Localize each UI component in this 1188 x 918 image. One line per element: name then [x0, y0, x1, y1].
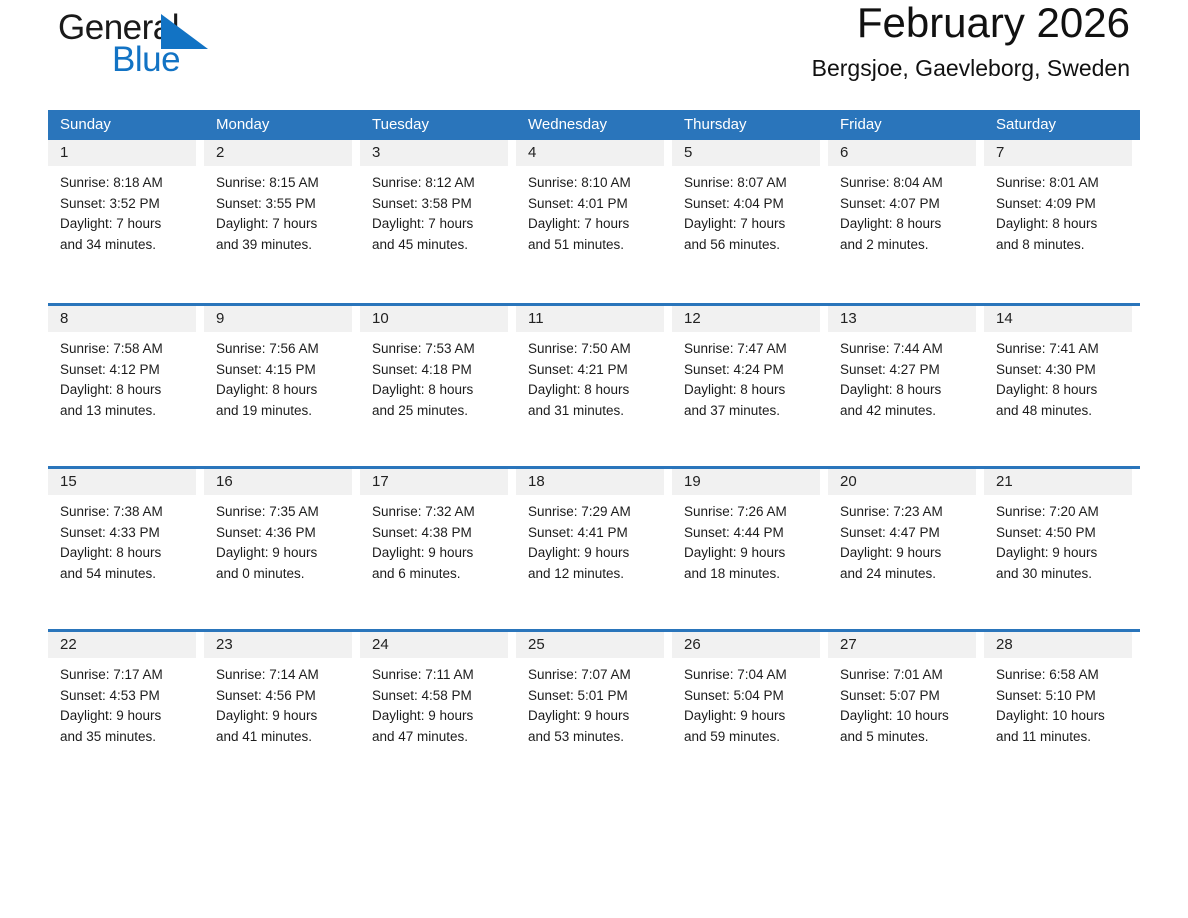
day-number-band: 17: [360, 469, 508, 495]
brand-name-blue: Blue: [112, 42, 180, 77]
daylight-text-line2: and 24 minutes.: [840, 564, 976, 585]
daylight-text-line1: Daylight: 8 hours: [840, 380, 976, 401]
sunrise-text: Sunrise: 7:50 AM: [528, 339, 664, 360]
daylight-text-line1: Daylight: 7 hours: [528, 214, 664, 235]
sunset-text: Sunset: 5:04 PM: [684, 686, 820, 707]
day-info: Sunrise: 7:35 AM Sunset: 4:36 PM Dayligh…: [204, 495, 352, 584]
day-cell[interactable]: 10 Sunrise: 7:53 AM Sunset: 4:18 PM Dayl…: [360, 306, 516, 466]
daylight-text-line2: and 47 minutes.: [372, 727, 508, 748]
daylight-text-line2: and 53 minutes.: [528, 727, 664, 748]
day-cell[interactable]: 12 Sunrise: 7:47 AM Sunset: 4:24 PM Dayl…: [672, 306, 828, 466]
day-number-band: 20: [828, 469, 976, 495]
sunrise-text: Sunrise: 6:58 AM: [996, 665, 1132, 686]
daylight-text-line1: Daylight: 9 hours: [528, 543, 664, 564]
day-cell[interactable]: 17 Sunrise: 7:32 AM Sunset: 4:38 PM Dayl…: [360, 469, 516, 629]
day-cell[interactable]: 13 Sunrise: 7:44 AM Sunset: 4:27 PM Dayl…: [828, 306, 984, 466]
day-number-band: 6: [828, 140, 976, 166]
day-cell[interactable]: 5 Sunrise: 8:07 AM Sunset: 4:04 PM Dayli…: [672, 140, 828, 303]
day-number: 18: [516, 469, 664, 495]
weekday-saturday: Saturday: [984, 110, 1140, 140]
sunset-text: Sunset: 3:55 PM: [216, 194, 352, 215]
daylight-text-line1: Daylight: 9 hours: [996, 543, 1132, 564]
day-number-band: 25: [516, 632, 664, 658]
daylight-text-line1: Daylight: 7 hours: [216, 214, 352, 235]
sunset-text: Sunset: 4:18 PM: [372, 360, 508, 381]
sunrise-text: Sunrise: 7:53 AM: [372, 339, 508, 360]
day-cell[interactable]: 3 Sunrise: 8:12 AM Sunset: 3:58 PM Dayli…: [360, 140, 516, 303]
sunrise-text: Sunrise: 7:07 AM: [528, 665, 664, 686]
day-info: Sunrise: 8:01 AM Sunset: 4:09 PM Dayligh…: [984, 166, 1132, 255]
title-block: February 2026 Bergsjoe, Gaevleborg, Swed…: [812, 0, 1130, 81]
day-info: Sunrise: 7:11 AM Sunset: 4:58 PM Dayligh…: [360, 658, 508, 747]
day-info: Sunrise: 7:14 AM Sunset: 4:56 PM Dayligh…: [204, 658, 352, 747]
day-number: 9: [204, 306, 352, 332]
day-info: Sunrise: 7:26 AM Sunset: 4:44 PM Dayligh…: [672, 495, 820, 584]
day-cell[interactable]: 21 Sunrise: 7:20 AM Sunset: 4:50 PM Dayl…: [984, 469, 1140, 629]
sunrise-text: Sunrise: 7:17 AM: [60, 665, 196, 686]
daylight-text-line1: Daylight: 8 hours: [684, 380, 820, 401]
daylight-text-line2: and 5 minutes.: [840, 727, 976, 748]
daylight-text-line1: Daylight: 8 hours: [996, 214, 1132, 235]
daylight-text-line2: and 13 minutes.: [60, 401, 196, 422]
daylight-text-line1: Daylight: 9 hours: [216, 706, 352, 727]
day-info: Sunrise: 7:32 AM Sunset: 4:38 PM Dayligh…: [360, 495, 508, 584]
day-number: 21: [984, 469, 1132, 495]
day-number-band: 1: [48, 140, 196, 166]
day-info: Sunrise: 8:10 AM Sunset: 4:01 PM Dayligh…: [516, 166, 664, 255]
day-number-band: 27: [828, 632, 976, 658]
sunset-text: Sunset: 5:01 PM: [528, 686, 664, 707]
day-info: Sunrise: 6:58 AM Sunset: 5:10 PM Dayligh…: [984, 658, 1132, 747]
daylight-text-line2: and 25 minutes.: [372, 401, 508, 422]
sunset-text: Sunset: 4:58 PM: [372, 686, 508, 707]
day-number: 5: [672, 140, 820, 166]
day-number: 26: [672, 632, 820, 658]
daylight-text-line2: and 42 minutes.: [840, 401, 976, 422]
calendar-grid: Sunday Monday Tuesday Wednesday Thursday…: [48, 110, 1140, 792]
daylight-text-line2: and 48 minutes.: [996, 401, 1132, 422]
day-cell[interactable]: 2 Sunrise: 8:15 AM Sunset: 3:55 PM Dayli…: [204, 140, 360, 303]
sunset-text: Sunset: 4:38 PM: [372, 523, 508, 544]
day-number: 8: [48, 306, 196, 332]
day-cell[interactable]: 9 Sunrise: 7:56 AM Sunset: 4:15 PM Dayli…: [204, 306, 360, 466]
sunset-text: Sunset: 4:24 PM: [684, 360, 820, 381]
day-info: Sunrise: 7:53 AM Sunset: 4:18 PM Dayligh…: [360, 332, 508, 421]
sunrise-text: Sunrise: 7:38 AM: [60, 502, 196, 523]
sunrise-text: Sunrise: 8:10 AM: [528, 173, 664, 194]
week-row: 22 Sunrise: 7:17 AM Sunset: 4:53 PM Dayl…: [48, 629, 1140, 792]
daylight-text-line2: and 12 minutes.: [528, 564, 664, 585]
daylight-text-line2: and 56 minutes.: [684, 235, 820, 256]
sunset-text: Sunset: 4:41 PM: [528, 523, 664, 544]
page-title: February 2026: [812, 0, 1130, 46]
weekday-header-row: Sunday Monday Tuesday Wednesday Thursday…: [48, 110, 1140, 140]
daylight-text-line2: and 41 minutes.: [216, 727, 352, 748]
day-info: Sunrise: 7:58 AM Sunset: 4:12 PM Dayligh…: [48, 332, 196, 421]
sunset-text: Sunset: 4:44 PM: [684, 523, 820, 544]
sunrise-text: Sunrise: 8:07 AM: [684, 173, 820, 194]
day-number: 16: [204, 469, 352, 495]
day-number: 6: [828, 140, 976, 166]
day-number-band: 21: [984, 469, 1132, 495]
day-number-band: 8: [48, 306, 196, 332]
daylight-text-line2: and 35 minutes.: [60, 727, 196, 748]
daylight-text-line2: and 19 minutes.: [216, 401, 352, 422]
sunset-text: Sunset: 4:30 PM: [996, 360, 1132, 381]
daylight-text-line1: Daylight: 10 hours: [840, 706, 976, 727]
sunrise-text: Sunrise: 7:32 AM: [372, 502, 508, 523]
day-number: 28: [984, 632, 1132, 658]
day-number: 17: [360, 469, 508, 495]
daylight-text-line2: and 39 minutes.: [216, 235, 352, 256]
sunset-text: Sunset: 4:36 PM: [216, 523, 352, 544]
sunrise-text: Sunrise: 7:23 AM: [840, 502, 976, 523]
day-info: Sunrise: 7:04 AM Sunset: 5:04 PM Dayligh…: [672, 658, 820, 747]
day-info: Sunrise: 7:07 AM Sunset: 5:01 PM Dayligh…: [516, 658, 664, 747]
daylight-text-line1: Daylight: 8 hours: [216, 380, 352, 401]
weekday-wednesday: Wednesday: [516, 110, 672, 140]
page-subtitle: Bergsjoe, Gaevleborg, Sweden: [812, 56, 1130, 81]
day-number-band: 16: [204, 469, 352, 495]
daylight-text-line1: Daylight: 9 hours: [372, 543, 508, 564]
daylight-text-line2: and 0 minutes.: [216, 564, 352, 585]
sunset-text: Sunset: 4:09 PM: [996, 194, 1132, 215]
day-number: 2: [204, 140, 352, 166]
sunrise-text: Sunrise: 7:14 AM: [216, 665, 352, 686]
sunrise-text: Sunrise: 7:04 AM: [684, 665, 820, 686]
day-number: 19: [672, 469, 820, 495]
day-cell[interactable]: 16 Sunrise: 7:35 AM Sunset: 4:36 PM Dayl…: [204, 469, 360, 629]
sunrise-text: Sunrise: 7:11 AM: [372, 665, 508, 686]
day-number: 24: [360, 632, 508, 658]
day-number-band: 22: [48, 632, 196, 658]
sunset-text: Sunset: 5:10 PM: [996, 686, 1132, 707]
daylight-text-line1: Daylight: 7 hours: [372, 214, 508, 235]
day-cell[interactable]: 11 Sunrise: 7:50 AM Sunset: 4:21 PM Dayl…: [516, 306, 672, 466]
sunrise-text: Sunrise: 7:56 AM: [216, 339, 352, 360]
sunset-text: Sunset: 3:58 PM: [372, 194, 508, 215]
daylight-text-line1: Daylight: 8 hours: [372, 380, 508, 401]
daylight-text-line1: Daylight: 9 hours: [684, 706, 820, 727]
day-cell[interactable]: 24 Sunrise: 7:11 AM Sunset: 4:58 PM Dayl…: [360, 632, 516, 792]
day-number-band: 18: [516, 469, 664, 495]
day-info: Sunrise: 7:20 AM Sunset: 4:50 PM Dayligh…: [984, 495, 1132, 584]
sunrise-text: Sunrise: 7:26 AM: [684, 502, 820, 523]
sunset-text: Sunset: 4:56 PM: [216, 686, 352, 707]
day-info: Sunrise: 7:41 AM Sunset: 4:30 PM Dayligh…: [984, 332, 1132, 421]
brand-logo[interactable]: General Blue: [58, 10, 258, 90]
day-info: Sunrise: 7:01 AM Sunset: 5:07 PM Dayligh…: [828, 658, 976, 747]
day-cell[interactable]: 14 Sunrise: 7:41 AM Sunset: 4:30 PM Dayl…: [984, 306, 1140, 466]
day-number-band: 4: [516, 140, 664, 166]
sunset-text: Sunset: 4:53 PM: [60, 686, 196, 707]
daylight-text-line2: and 37 minutes.: [684, 401, 820, 422]
day-number: 4: [516, 140, 664, 166]
day-cell[interactable]: 26 Sunrise: 7:04 AM Sunset: 5:04 PM Dayl…: [672, 632, 828, 792]
day-number-band: 28: [984, 632, 1132, 658]
day-number: 10: [360, 306, 508, 332]
daylight-text-line2: and 54 minutes.: [60, 564, 196, 585]
day-cell[interactable]: 22 Sunrise: 7:17 AM Sunset: 4:53 PM Dayl…: [48, 632, 204, 792]
sunrise-text: Sunrise: 7:35 AM: [216, 502, 352, 523]
day-info: Sunrise: 7:29 AM Sunset: 4:41 PM Dayligh…: [516, 495, 664, 584]
day-number-band: 11: [516, 306, 664, 332]
day-info: Sunrise: 8:04 AM Sunset: 4:07 PM Dayligh…: [828, 166, 976, 255]
day-number-band: 3: [360, 140, 508, 166]
day-number-band: 23: [204, 632, 352, 658]
day-number: 22: [48, 632, 196, 658]
day-cell[interactable]: 4 Sunrise: 8:10 AM Sunset: 4:01 PM Dayli…: [516, 140, 672, 303]
sunset-text: Sunset: 4:07 PM: [840, 194, 976, 215]
daylight-text-line1: Daylight: 7 hours: [684, 214, 820, 235]
day-number-band: 24: [360, 632, 508, 658]
page-header: General Blue February 2026 Bergsjoe, Gae…: [48, 0, 1140, 110]
week-row: 1 Sunrise: 8:18 AM Sunset: 3:52 PM Dayli…: [48, 140, 1140, 303]
sunrise-text: Sunrise: 7:58 AM: [60, 339, 196, 360]
daylight-text-line1: Daylight: 10 hours: [996, 706, 1132, 727]
sunrise-text: Sunrise: 7:29 AM: [528, 502, 664, 523]
day-cell[interactable]: 7 Sunrise: 8:01 AM Sunset: 4:09 PM Dayli…: [984, 140, 1140, 303]
week-row: 15 Sunrise: 7:38 AM Sunset: 4:33 PM Dayl…: [48, 466, 1140, 629]
day-cell[interactable]: 19 Sunrise: 7:26 AM Sunset: 4:44 PM Dayl…: [672, 469, 828, 629]
daylight-text-line2: and 45 minutes.: [372, 235, 508, 256]
day-number-band: 9: [204, 306, 352, 332]
daylight-text-line1: Daylight: 8 hours: [60, 543, 196, 564]
day-info: Sunrise: 8:07 AM Sunset: 4:04 PM Dayligh…: [672, 166, 820, 255]
sunrise-text: Sunrise: 8:15 AM: [216, 173, 352, 194]
day-number-band: 13: [828, 306, 976, 332]
sunset-text: Sunset: 4:15 PM: [216, 360, 352, 381]
sunset-text: Sunset: 4:50 PM: [996, 523, 1132, 544]
day-number: 1: [48, 140, 196, 166]
sunrise-text: Sunrise: 8:04 AM: [840, 173, 976, 194]
weekday-monday: Monday: [204, 110, 360, 140]
sunrise-text: Sunrise: 7:20 AM: [996, 502, 1132, 523]
daylight-text-line2: and 34 minutes.: [60, 235, 196, 256]
day-number-band: 19: [672, 469, 820, 495]
daylight-text-line2: and 8 minutes.: [996, 235, 1132, 256]
day-number-band: 14: [984, 306, 1132, 332]
day-info: Sunrise: 8:12 AM Sunset: 3:58 PM Dayligh…: [360, 166, 508, 255]
daylight-text-line1: Daylight: 8 hours: [840, 214, 976, 235]
daylight-text-line1: Daylight: 8 hours: [996, 380, 1132, 401]
sunrise-text: Sunrise: 8:12 AM: [372, 173, 508, 194]
day-number: 12: [672, 306, 820, 332]
day-info: Sunrise: 7:38 AM Sunset: 4:33 PM Dayligh…: [48, 495, 196, 584]
day-number: 11: [516, 306, 664, 332]
sunrise-text: Sunrise: 8:18 AM: [60, 173, 196, 194]
daylight-text-line1: Daylight: 9 hours: [60, 706, 196, 727]
day-info: Sunrise: 7:44 AM Sunset: 4:27 PM Dayligh…: [828, 332, 976, 421]
day-number: 3: [360, 140, 508, 166]
daylight-text-line1: Daylight: 8 hours: [528, 380, 664, 401]
weekday-tuesday: Tuesday: [360, 110, 516, 140]
day-cell[interactable]: 28 Sunrise: 6:58 AM Sunset: 5:10 PM Dayl…: [984, 632, 1140, 792]
daylight-text-line1: Daylight: 9 hours: [684, 543, 820, 564]
daylight-text-line1: Daylight: 9 hours: [216, 543, 352, 564]
day-cell[interactable]: 23 Sunrise: 7:14 AM Sunset: 4:56 PM Dayl…: [204, 632, 360, 792]
daylight-text-line1: Daylight: 9 hours: [528, 706, 664, 727]
daylight-text-line2: and 6 minutes.: [372, 564, 508, 585]
day-cell[interactable]: 20 Sunrise: 7:23 AM Sunset: 4:47 PM Dayl…: [828, 469, 984, 629]
day-info: Sunrise: 7:50 AM Sunset: 4:21 PM Dayligh…: [516, 332, 664, 421]
sunset-text: Sunset: 4:47 PM: [840, 523, 976, 544]
weekday-thursday: Thursday: [672, 110, 828, 140]
day-number-band: 7: [984, 140, 1132, 166]
day-number: 23: [204, 632, 352, 658]
daylight-text-line2: and 11 minutes.: [996, 727, 1132, 748]
weekday-friday: Friday: [828, 110, 984, 140]
day-cell[interactable]: 15 Sunrise: 7:38 AM Sunset: 4:33 PM Dayl…: [48, 469, 204, 629]
day-number: 15: [48, 469, 196, 495]
day-info: Sunrise: 8:18 AM Sunset: 3:52 PM Dayligh…: [48, 166, 196, 255]
day-number-band: 15: [48, 469, 196, 495]
day-info: Sunrise: 7:47 AM Sunset: 4:24 PM Dayligh…: [672, 332, 820, 421]
daylight-text-line2: and 2 minutes.: [840, 235, 976, 256]
day-cell[interactable]: 1 Sunrise: 8:18 AM Sunset: 3:52 PM Dayli…: [48, 140, 204, 303]
day-number-band: 12: [672, 306, 820, 332]
day-number-band: 10: [360, 306, 508, 332]
day-number: 13: [828, 306, 976, 332]
day-info: Sunrise: 7:23 AM Sunset: 4:47 PM Dayligh…: [828, 495, 976, 584]
week-row: 8 Sunrise: 7:58 AM Sunset: 4:12 PM Dayli…: [48, 303, 1140, 466]
sunset-text: Sunset: 4:27 PM: [840, 360, 976, 381]
sunset-text: Sunset: 3:52 PM: [60, 194, 196, 215]
daylight-text-line1: Daylight: 9 hours: [840, 543, 976, 564]
day-number-band: 5: [672, 140, 820, 166]
daylight-text-line2: and 30 minutes.: [996, 564, 1132, 585]
day-info: Sunrise: 7:56 AM Sunset: 4:15 PM Dayligh…: [204, 332, 352, 421]
day-number: 7: [984, 140, 1132, 166]
day-info: Sunrise: 8:15 AM Sunset: 3:55 PM Dayligh…: [204, 166, 352, 255]
day-cell[interactable]: 8 Sunrise: 7:58 AM Sunset: 4:12 PM Dayli…: [48, 306, 204, 466]
sunset-text: Sunset: 4:12 PM: [60, 360, 196, 381]
calendar-page: General Blue February 2026 Bergsjoe, Gae…: [0, 0, 1188, 918]
daylight-text-line2: and 51 minutes.: [528, 235, 664, 256]
day-number-band: 2: [204, 140, 352, 166]
daylight-text-line2: and 59 minutes.: [684, 727, 820, 748]
sunset-text: Sunset: 4:04 PM: [684, 194, 820, 215]
sunrise-text: Sunrise: 7:01 AM: [840, 665, 976, 686]
sunset-text: Sunset: 5:07 PM: [840, 686, 976, 707]
sunrise-text: Sunrise: 7:47 AM: [684, 339, 820, 360]
sunrise-text: Sunrise: 8:01 AM: [996, 173, 1132, 194]
day-number: 25: [516, 632, 664, 658]
day-number: 14: [984, 306, 1132, 332]
sunrise-text: Sunrise: 7:41 AM: [996, 339, 1132, 360]
sunset-text: Sunset: 4:33 PM: [60, 523, 196, 544]
day-info: Sunrise: 7:17 AM Sunset: 4:53 PM Dayligh…: [48, 658, 196, 747]
weekday-sunday: Sunday: [48, 110, 204, 140]
daylight-text-line2: and 31 minutes.: [528, 401, 664, 422]
day-cell[interactable]: 18 Sunrise: 7:29 AM Sunset: 4:41 PM Dayl…: [516, 469, 672, 629]
day-number: 20: [828, 469, 976, 495]
day-number-band: 26: [672, 632, 820, 658]
daylight-text-line2: and 18 minutes.: [684, 564, 820, 585]
sunset-text: Sunset: 4:01 PM: [528, 194, 664, 215]
sunrise-text: Sunrise: 7:44 AM: [840, 339, 976, 360]
day-cell[interactable]: 25 Sunrise: 7:07 AM Sunset: 5:01 PM Dayl…: [516, 632, 672, 792]
daylight-text-line1: Daylight: 7 hours: [60, 214, 196, 235]
day-number: 27: [828, 632, 976, 658]
daylight-text-line1: Daylight: 8 hours: [60, 380, 196, 401]
sunset-text: Sunset: 4:21 PM: [528, 360, 664, 381]
daylight-text-line1: Daylight: 9 hours: [372, 706, 508, 727]
day-cell[interactable]: 6 Sunrise: 8:04 AM Sunset: 4:07 PM Dayli…: [828, 140, 984, 303]
day-cell[interactable]: 27 Sunrise: 7:01 AM Sunset: 5:07 PM Dayl…: [828, 632, 984, 792]
